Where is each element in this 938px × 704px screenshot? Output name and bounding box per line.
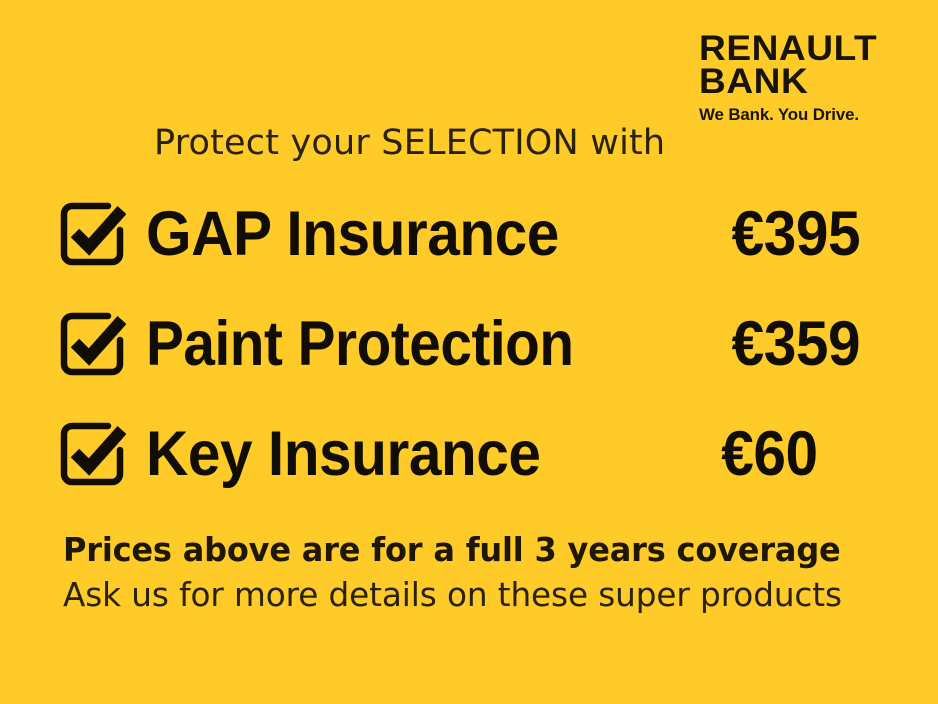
page-title: Protect your SELECTION with: [154, 123, 665, 163]
product-label: Paint Protection: [146, 306, 574, 382]
product-label: GAP Insurance: [146, 196, 559, 272]
promo-poster: RENAULT BANK We Bank. You Drive. Protect…: [0, 0, 938, 704]
logo-tagline: We Bank. You Drive.: [699, 105, 902, 125]
footer-note: Prices above are for a full 3 years cove…: [63, 528, 883, 617]
footer-line-secondary: Ask us for more details on these super p…: [63, 573, 875, 617]
product-label: Key Insurance: [146, 416, 541, 492]
list-item: Paint Protection €359: [58, 306, 878, 390]
logo-line-bank: BANK: [699, 66, 916, 98]
footer-line-primary: Prices above are for a full 3 years cove…: [63, 528, 858, 572]
logo-line-renault: RENAULT: [699, 33, 916, 65]
checked-checkbox-icon: [58, 200, 126, 268]
checked-checkbox-icon: [58, 310, 126, 378]
product-price: €359: [732, 306, 860, 382]
list-item: GAP Insurance €395: [58, 196, 878, 280]
product-price: €395: [732, 196, 860, 272]
list-item: Key Insurance €60: [58, 416, 878, 500]
checked-checkbox-icon: [58, 420, 126, 488]
product-price: €60: [722, 416, 818, 492]
renault-bank-logo: RENAULT BANK We Bank. You Drive.: [699, 33, 904, 125]
